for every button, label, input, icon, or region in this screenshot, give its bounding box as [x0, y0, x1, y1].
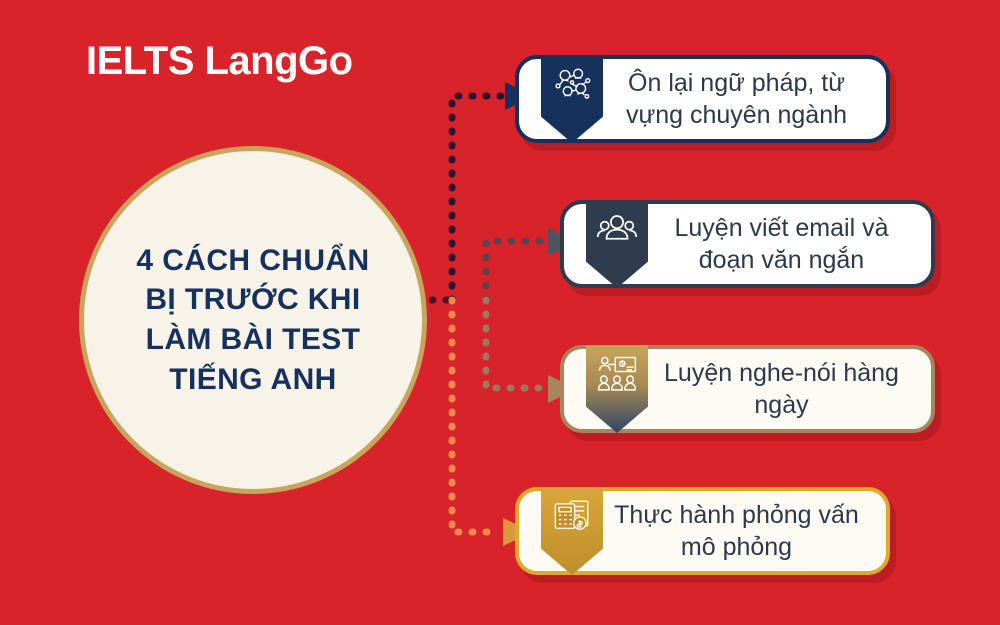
step-card-2[interactable]: Luyện viết email và đoạn văn ngắn [560, 200, 935, 288]
hub-title-line-2: BỊ TRƯỚC KHI [136, 280, 369, 320]
user-group-icon [596, 209, 638, 251]
step-card-1[interactable]: Ôn lại ngữ pháp, từ vựng chuyên ngành [515, 55, 890, 143]
hub-title-line-1: 4 CÁCH CHUẨN [136, 241, 369, 281]
infographic-canvas: IELTS LangGo 4 CÁCH CHUẨN BỊ TRƯỚC KHI L… [0, 0, 1000, 625]
calculator-document-icon [551, 496, 593, 538]
classroom-presentation-icon [596, 354, 638, 396]
step-card-3[interactable]: Luyện nghe-nói hàng ngày [560, 345, 935, 433]
hub-title-line-3: LÀM BÀI TEST [136, 320, 369, 360]
branch-to-step-1 [452, 96, 505, 300]
page-title: 4 CÁCH CHUẨN BỊ TRƯỚC KHI LÀM BÀI TEST T… [118, 241, 387, 399]
central-hub: 4 CÁCH CHUẨN BỊ TRƯỚC KHI LÀM BÀI TEST T… [79, 146, 427, 494]
branch-to-step-3 [486, 300, 545, 388]
branch-to-step-4 [452, 300, 500, 532]
branch-to-step-2 [486, 241, 545, 300]
hub-title-line-4: TIẾNG ANH [136, 360, 369, 400]
people-network-icon [551, 64, 593, 106]
step-card-4[interactable]: Thực hành phỏng vấn mô phỏng [515, 487, 890, 575]
